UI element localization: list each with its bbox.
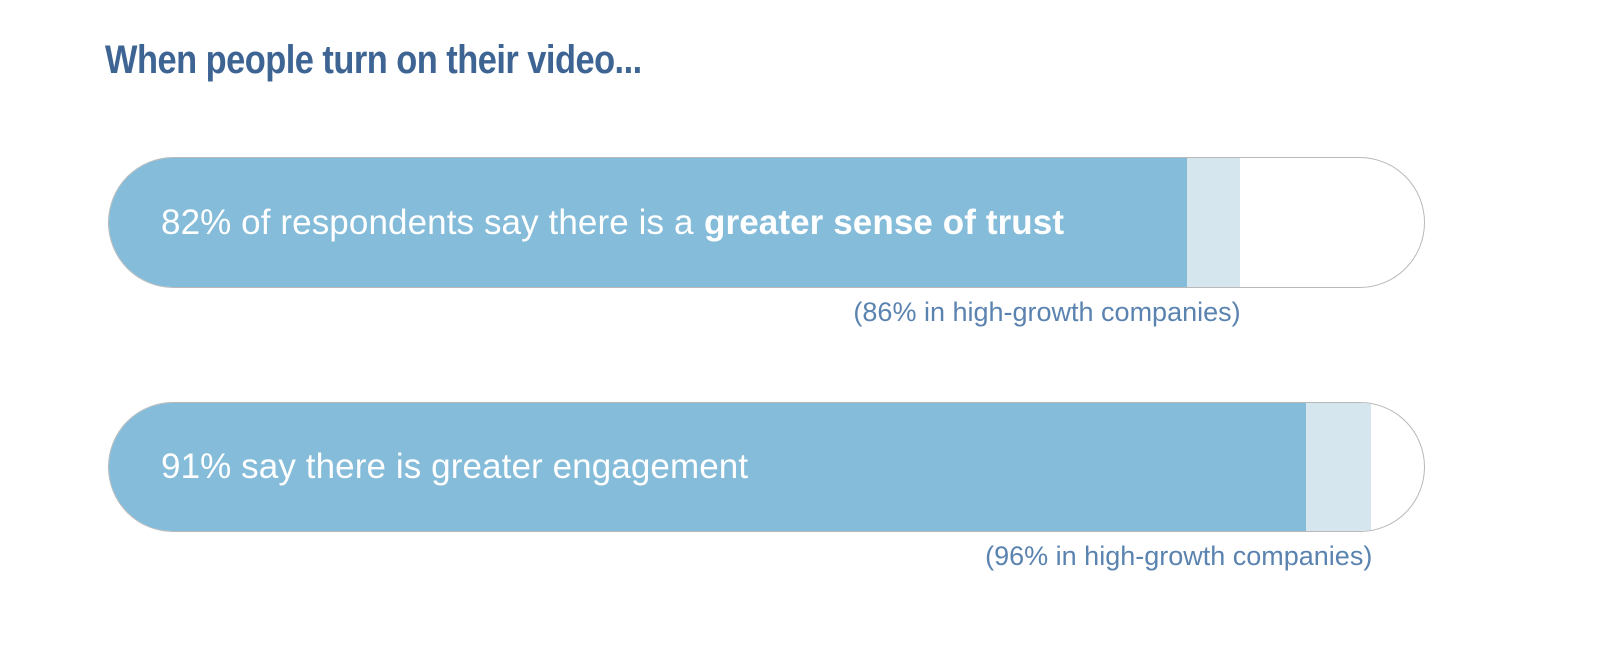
bar-group-trust: 82% of respondents say there is a greate…: [108, 157, 1425, 288]
bar-label-emphasis: greater sense of trust: [704, 203, 1064, 243]
bar-track: 82% of respondents say there is a greate…: [108, 157, 1425, 288]
bar-caption: (86% in high-growth companies): [853, 297, 1240, 328]
page-title: When people turn on their video...: [105, 38, 642, 83]
bar-label: 91% say there is greater engagement: [161, 403, 759, 531]
bar-track: 91% say there is greater engagement: [108, 402, 1425, 532]
bar-caption: (96% in high-growth companies): [985, 541, 1372, 572]
infographic-canvas: When people turn on their video... 82% o…: [0, 0, 1600, 647]
bar-group-engagement: 91% say there is greater engagement (96%…: [108, 402, 1425, 532]
bar-label: 82% of respondents say there is a greate…: [161, 158, 1064, 287]
bar-label-plain: 82% of respondents say there is a: [161, 203, 694, 243]
bar-label-plain: 91% say there is greater engagement: [161, 447, 748, 487]
